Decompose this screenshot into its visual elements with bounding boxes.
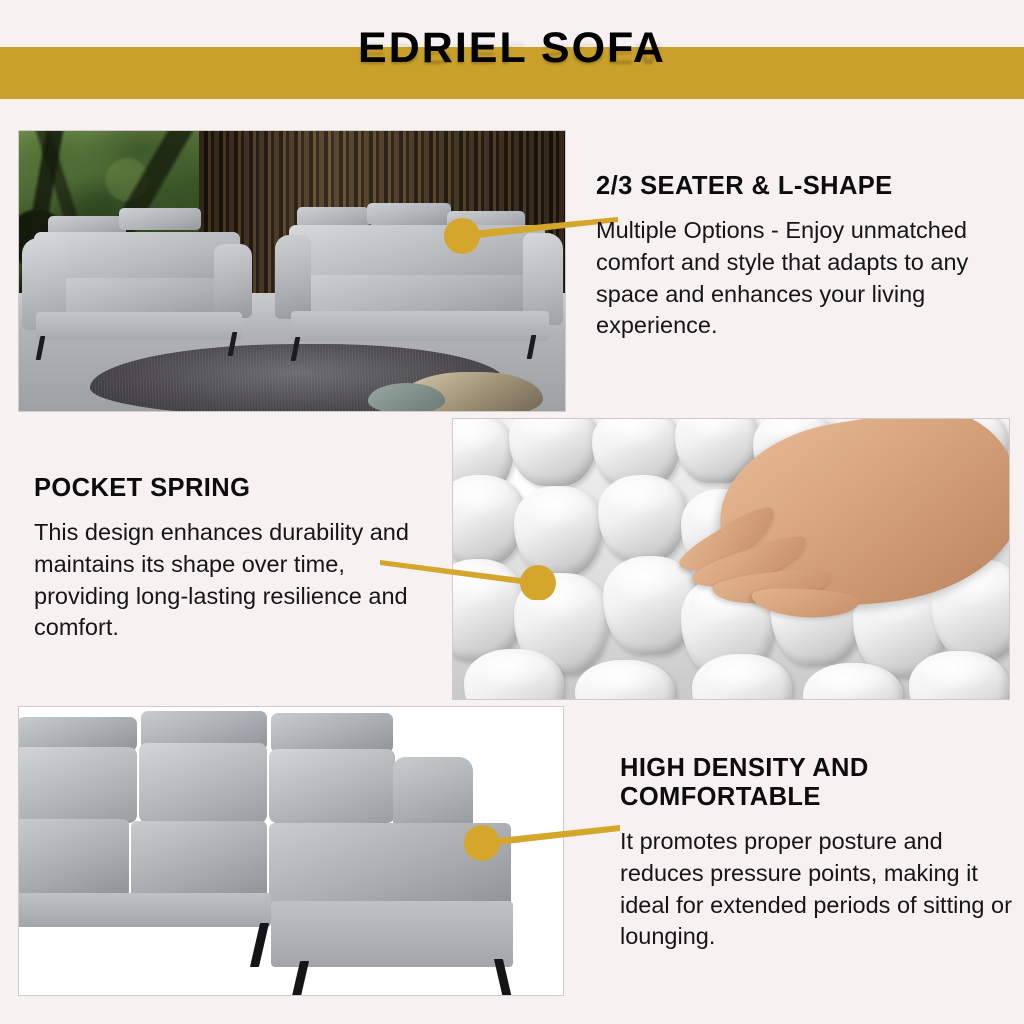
sofa-leg	[36, 336, 46, 360]
headrest	[119, 208, 201, 230]
feature-body-high-density: It promotes proper posture and reduces p…	[620, 826, 1020, 953]
spring-coil	[509, 418, 598, 486]
backrest-cushion	[269, 749, 395, 823]
seat-cushion	[18, 819, 129, 897]
three-seater-sofa	[275, 219, 563, 381]
headrest	[18, 717, 137, 751]
page-title: EDRIEL SOFA	[358, 27, 666, 70]
feature-block-high-density: HIGH DENSITY AND COMFORTABLE It promotes…	[620, 754, 1020, 953]
l-shape-scene	[19, 707, 563, 995]
l-shape-sectional	[18, 711, 564, 991]
sofa-base	[18, 893, 271, 927]
seat-cushions	[40, 278, 236, 316]
photo-l-shape-sofa	[18, 706, 564, 996]
spring-coil	[514, 486, 603, 576]
sofa-base	[291, 311, 549, 341]
sofa-base	[36, 312, 242, 340]
backrest-cushion	[139, 743, 267, 823]
floor-cushion-secondary	[368, 383, 444, 412]
photo-sofa-set	[18, 130, 566, 412]
feature-heading-pocket-spring: POCKET SPRING	[34, 474, 434, 503]
seat-cushion	[131, 821, 267, 899]
chaise-base	[271, 901, 513, 967]
backrest-cushion	[18, 747, 137, 823]
infographic-page: EDRIEL SOFA EDRIEL SOFA	[0, 0, 1024, 1024]
photo-sofa-set-scene	[19, 131, 565, 411]
feature-heading-seater: 2/3 SEATER & L-SHAPE	[596, 172, 1016, 201]
feature-body-seater: Multiple Options - Enjoy unmatched comfo…	[596, 215, 1016, 342]
seat-cushions	[295, 275, 543, 315]
pocket-spring-scene	[453, 419, 1009, 699]
spring-coil	[598, 475, 687, 562]
sofa-leg	[291, 337, 301, 361]
two-seater-sofa	[24, 226, 256, 378]
feature-body-pocket-spring: This design enhances durability and main…	[34, 517, 434, 644]
chaise-seat	[269, 823, 511, 909]
feature-block-pocket-spring: POCKET SPRING This design enhances durab…	[34, 474, 434, 644]
backrest	[289, 225, 545, 281]
photo-pocket-spring	[452, 418, 1010, 700]
headrest	[367, 203, 451, 225]
feature-block-seater: 2/3 SEATER & L-SHAPE Multiple Options - …	[596, 172, 1016, 342]
page-title-wrap: EDRIEL SOFA	[0, 0, 1024, 100]
sofa-leg	[250, 923, 269, 967]
feature-heading-high-density: HIGH DENSITY AND COMFORTABLE	[620, 754, 1020, 812]
armrest-left	[275, 235, 311, 319]
headrest	[271, 713, 393, 753]
armrest-right	[214, 244, 252, 318]
